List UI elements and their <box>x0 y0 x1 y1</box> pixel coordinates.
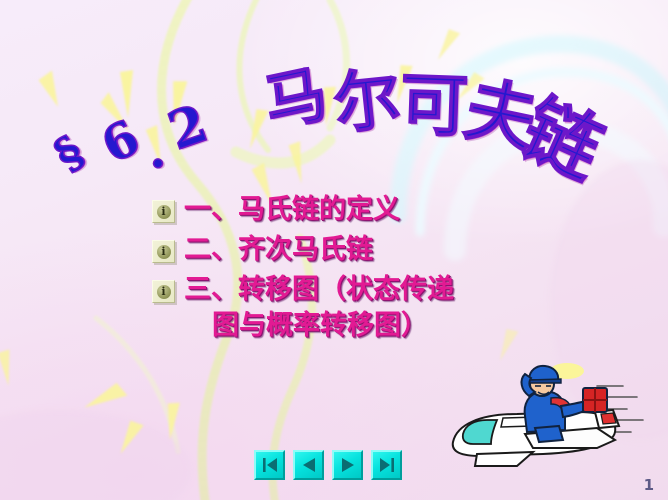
title-char-1: 6 <box>95 113 147 171</box>
bullet-line: 二、齐次马氏链 <box>184 234 373 265</box>
title-char-3: 2 <box>163 98 214 159</box>
list-item[interactable]: i 一、马氏链的定义 <box>152 192 582 228</box>
title-char-5: 尔 <box>331 65 404 138</box>
list-item[interactable]: i 三、转移图（状态传递 图与概率转移图） <box>152 272 582 344</box>
previous-slide-button[interactable] <box>293 450 324 480</box>
info-bullet-glyph: i <box>157 205 171 219</box>
mail-carrier-airplane-clipart <box>447 362 655 470</box>
title-char-0: § <box>48 129 92 178</box>
next-slide-button[interactable] <box>332 450 363 480</box>
carrier-cap-brim <box>529 379 561 383</box>
info-bullet-glyph: i <box>157 245 171 259</box>
info-bullet-icon: i <box>152 280 175 303</box>
bullet-label-2: 二、齐次马氏链 <box>184 232 373 268</box>
next-slide-icon <box>339 457 357 473</box>
bullet-line: 三、转移图（状态传递 <box>184 274 454 305</box>
clipart-svg <box>447 362 655 470</box>
slide-title-wordart: § 6 . 2 马 尔 可 夫 链 <box>0 40 668 210</box>
page-number: 1 <box>644 476 654 494</box>
title-char-6: 可 <box>399 71 469 141</box>
first-slide-button[interactable] <box>254 450 285 480</box>
list-item[interactable]: i 二、齐次马氏链 <box>152 232 582 268</box>
presentation-slide: § 6 . 2 马 尔 可 夫 链 i 一、马氏链的定义 i 二、齐次马氏链 <box>0 0 668 500</box>
last-slide-button[interactable] <box>371 450 402 480</box>
bullet-line-wrapped: 图与概率转移图） <box>184 308 454 344</box>
slide-bullet-list: i 一、马氏链的定义 i 二、齐次马氏链 i 三、转移图（状态传递 图与概率转移… <box>152 192 582 348</box>
bullet-label-3: 三、转移图（状态传递 图与概率转移图） <box>184 272 454 344</box>
previous-slide-icon <box>300 457 318 473</box>
plane-stabilizer <box>475 452 533 466</box>
info-bullet-icon: i <box>152 240 175 263</box>
first-slide-icon <box>261 457 279 473</box>
plane-tail-accent <box>601 413 616 424</box>
info-bullet-icon: i <box>152 200 175 223</box>
bullet-line: 一、马氏链的定义 <box>184 194 400 225</box>
carrier-legs <box>535 426 563 442</box>
info-bullet-glyph: i <box>157 285 171 299</box>
last-slide-icon <box>378 457 396 473</box>
slideshow-navigation-bar <box>254 450 402 480</box>
red-package <box>583 388 607 412</box>
title-char-4: 马 <box>259 62 333 136</box>
bullet-label-1: 一、马氏链的定义 <box>184 192 400 228</box>
